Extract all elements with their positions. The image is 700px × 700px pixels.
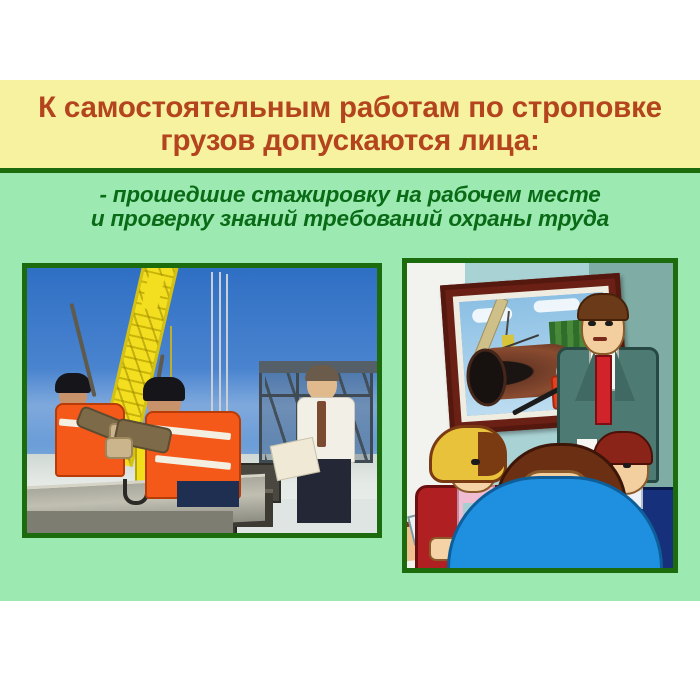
supervisor-tie xyxy=(317,401,326,447)
title-line-2: грузов допускаются лица: xyxy=(160,124,539,157)
subtitle-line-2: и проверку знаний требований охраны труд… xyxy=(0,207,700,231)
title-banner: К самостоятельным работам по строповке г… xyxy=(0,80,700,168)
safety-poster: К самостоятельным работам по строповке г… xyxy=(0,0,700,700)
instructor-eye xyxy=(588,321,596,326)
worker-knit-cap xyxy=(143,377,185,401)
instructor-lapel xyxy=(575,349,595,401)
instructor-lapel xyxy=(615,349,635,401)
worker-legs xyxy=(177,481,239,507)
worker-glove xyxy=(105,437,133,459)
instructor-hair xyxy=(577,293,629,321)
worker-knit-cap xyxy=(55,373,91,393)
supervisor-hair xyxy=(305,365,339,381)
instructor-eye xyxy=(605,321,613,326)
trainee-eye xyxy=(471,459,480,465)
subtitle-block: - прошедшие стажировку на рабочем месте … xyxy=(0,183,700,231)
site-supervisor xyxy=(279,367,367,523)
instructor-mouth xyxy=(593,337,607,341)
concrete-slab-edge xyxy=(27,511,233,533)
rigger-worker-foreground xyxy=(111,377,243,497)
instructor-red-tie xyxy=(595,355,612,425)
classroom-training-illustration xyxy=(402,258,678,573)
foreground-trainee-shirt xyxy=(447,476,663,573)
construction-site-photo xyxy=(22,263,382,538)
foreground-trainee-blue xyxy=(447,468,657,573)
subtitle-line-1: - прошедшие стажировку на рабочем месте xyxy=(99,182,600,207)
title-line-1: К самостоятельным работам по строповке xyxy=(38,91,662,124)
